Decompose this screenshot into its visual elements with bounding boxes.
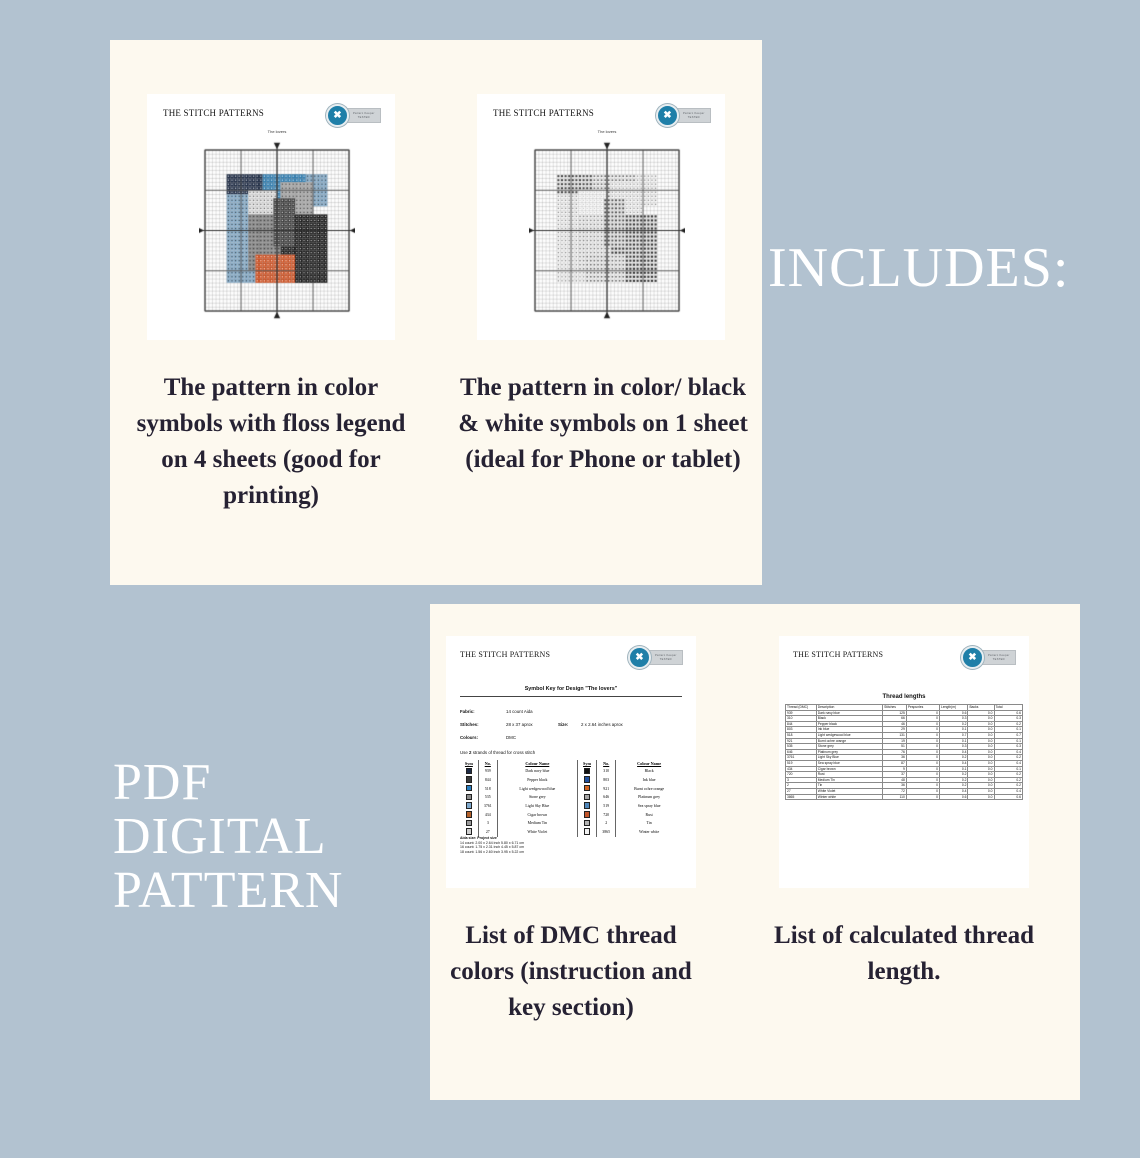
legend-row: 518Light wedgewood blue921Burnt ochre or… — [460, 784, 682, 793]
symbol-col-1: No. — [478, 760, 497, 767]
thread-lengths-title: Thread lengths — [779, 694, 1029, 700]
legend-no: 518 — [478, 784, 497, 793]
legend-no: 720 — [597, 810, 616, 819]
legend-swatch — [577, 810, 596, 819]
length-backs: 0.0 — [968, 794, 994, 800]
legend-name: Medium Tin — [497, 819, 577, 828]
fabric-label: Fabric: — [460, 709, 475, 714]
field-fabric-label: Fabric: — [460, 709, 475, 714]
field-colours-value: DMC — [506, 735, 516, 740]
sheet-brand-title: THE STITCH PATTERNS — [793, 650, 883, 659]
legend-name: Pepper black — [497, 776, 577, 785]
length-stitches: 110 — [883, 794, 907, 800]
strands-note-post: strands of thread for cross stitch — [471, 750, 535, 755]
length-length: 0.6 — [940, 794, 968, 800]
legend-no: 2 — [597, 819, 616, 828]
legend-swatch — [460, 802, 478, 811]
legend-name: Winter white — [616, 828, 682, 837]
legend-name: Light wedgewood blue — [497, 784, 577, 793]
legend-no: 3761 — [478, 802, 497, 811]
strands-note: Use 2 strands of thread for cross stitch — [460, 750, 535, 755]
legend-swatch — [577, 793, 596, 802]
length-row: 3865Winter white11000.60.00.6 — [786, 794, 1023, 800]
pdf-line-3: PATTERN — [113, 864, 343, 918]
pattern-keeper-seal-icon: ✖ — [628, 646, 651, 669]
pattern-keeper-badge: ✖ Pattern Keeper TESTED — [656, 104, 711, 127]
length-total: 0.6 — [994, 794, 1022, 800]
field-fabric-value: 14 count Aida — [506, 709, 533, 714]
legend-no: 535 — [478, 793, 497, 802]
field-stitches-value: 28 x 37 aprox — [506, 722, 533, 727]
legend-swatch — [577, 819, 596, 828]
caption-dmc-list: List of DMC thread colors (instruction a… — [450, 918, 692, 1026]
pattern-keeper-seal-icon: ✖ — [656, 104, 679, 127]
legend-no: 939 — [478, 767, 497, 776]
stitches-label: Stitches: — [460, 722, 479, 727]
pattern-keeper-badge: ✖ Pattern Keeper TESTED — [326, 104, 381, 127]
pattern-keeper-badge: ✖ Pattern Keeper TESTED — [961, 646, 1016, 669]
strands-note-pre: Use — [460, 750, 469, 755]
field-colours-label: Colours: — [460, 735, 478, 740]
pattern-keeper-badge: ✖ Pattern Keeper TESTED — [628, 646, 683, 669]
field-size-value: 2 x 2.64 inches aprox — [581, 722, 623, 727]
cross-stitch-bw-chart: The lovers — [529, 140, 685, 321]
caption-bw-symbols: The pattern in color/ black & white symb… — [455, 370, 751, 478]
aida-header: Aida size: Project size — [460, 836, 497, 840]
caption-thread-length: List of calculated thread length. — [760, 918, 1048, 990]
legend-name: Cigar brown — [497, 810, 577, 819]
chart-title-label: The lovers — [529, 129, 685, 134]
legend-name: Rust — [616, 810, 682, 819]
legend-row: 434Cigar brown720Rust — [460, 810, 682, 819]
cross-stitch-color-chart: The lovers — [199, 140, 355, 321]
legend-swatch — [460, 793, 478, 802]
legend-row: 844Pepper black803Ink blue — [460, 776, 682, 785]
legend-name: Platinum grey — [616, 793, 682, 802]
bw-chart-canvas — [529, 140, 685, 321]
legend-name: Ink blue — [616, 776, 682, 785]
legend-no: 519 — [597, 802, 616, 811]
symbol-col-2: Colour Name — [497, 760, 577, 767]
size-label: Size: — [558, 722, 568, 727]
symbol-col-r2: Colour Name — [616, 760, 682, 767]
legend-swatch — [460, 784, 478, 793]
color-chart-canvas — [199, 140, 355, 321]
legend-swatch — [577, 802, 596, 811]
legend-name: Dark navy blue — [497, 767, 577, 776]
legend-row: 939Dark navy blue310Black — [460, 767, 682, 776]
legend-name: Black — [616, 767, 682, 776]
aida-line-14: 14 count: 2.00 x 2.64 inch 5.80 x 6.71 c… — [460, 841, 524, 845]
sheet-brand-title: THE STITCH PATTERNS — [460, 650, 550, 659]
legend-no: 3 — [478, 819, 497, 828]
sheet-brand-title: THE STITCH PATTERNS — [163, 108, 264, 118]
field-size-label: Size: — [558, 722, 568, 727]
symbol-col-r1: No. — [597, 760, 616, 767]
pdf-line-2: DIGITAL — [113, 810, 343, 864]
legend-row: 3Medium Tin2Tin — [460, 819, 682, 828]
aida-size-block: Aida size: Project size 14 count: 2.00 x… — [460, 836, 524, 854]
legend-no: 646 — [597, 793, 616, 802]
aida-line-18: 18 count: 1.56 x 2.60 inch 3.95 x 5.22 c… — [460, 850, 524, 854]
legend-no: 803 — [597, 776, 616, 785]
legend-no: 310 — [597, 767, 616, 776]
aida-line-16: 16 count: 1.75 x 2.31 inch 4.45 x 5.87 c… — [460, 845, 524, 849]
badge-ribbon-line-2: TESTED — [358, 116, 370, 120]
legend-no: 434 — [478, 810, 497, 819]
legend-name: Tin — [616, 819, 682, 828]
chart-title-label: The lovers — [199, 129, 355, 134]
bw-symbol-chart-sheet[interactable]: THE STITCH PATTERNS ✖ Pattern Keeper TES… — [477, 94, 725, 340]
caption-color-symbols: The pattern in color symbols with floss … — [130, 370, 412, 514]
pdf-line-1: PDF — [113, 756, 343, 810]
color-symbol-chart-sheet[interactable]: THE STITCH PATTERNS ✖ Pattern Keeper TES… — [147, 94, 395, 340]
legend-row: 535Stone grey646Platinum grey — [460, 793, 682, 802]
symbol-key-sheet[interactable]: THE STITCH PATTERNS ✖ Pattern Keeper TES… — [446, 636, 696, 888]
legend-swatch — [460, 776, 478, 785]
legend-no: 3865 — [597, 828, 616, 837]
legend-name: Burnt ochre orange — [616, 784, 682, 793]
legend-swatch — [577, 828, 596, 837]
length-thread: 3865 — [786, 794, 817, 800]
legend-name: Stone grey — [497, 793, 577, 802]
symbol-col-0: Sym — [460, 760, 478, 767]
symbol-legend-table: SymNo.Colour NameSymNo.Colour Name939Dar… — [460, 760, 682, 837]
symbol-key-title: Symbol Key for Design "The lovers" — [446, 686, 696, 692]
thread-lengths-sheet[interactable]: THE STITCH PATTERNS ✖ Pattern Keeper TES… — [779, 636, 1029, 888]
pattern-keeper-seal-icon: ✖ — [326, 104, 349, 127]
field-stitches-label: Stitches: — [460, 722, 479, 727]
sheet-brand-title: THE STITCH PATTERNS — [493, 108, 594, 118]
key-divider — [460, 696, 682, 697]
legend-name: Sea spray blue — [616, 802, 682, 811]
thread-lengths-table: Thread (DMC)DescriptionStitchesPespunles… — [785, 704, 1023, 800]
badge-ribbon-line-2: TESTED — [688, 116, 700, 120]
legend-swatch — [460, 819, 478, 828]
pattern-keeper-seal-icon: ✖ — [961, 646, 984, 669]
includes-headline: INCLUDES: — [768, 236, 1069, 300]
length-desc: Winter white — [816, 794, 882, 800]
colours-label: Colours: — [460, 735, 478, 740]
badge-ribbon-line-2: TESTED — [993, 658, 1005, 662]
legend-no: 921 — [597, 784, 616, 793]
legend-name: Light Sky Blue — [497, 802, 577, 811]
legend-swatch — [577, 767, 596, 776]
badge-ribbon-line-2: TESTED — [660, 658, 672, 662]
legend-row: 3761Light Sky Blue519Sea spray blue — [460, 802, 682, 811]
length-pesp: 0 — [906, 794, 939, 800]
legend-swatch — [460, 767, 478, 776]
legend-swatch — [577, 784, 596, 793]
legend-swatch — [577, 776, 596, 785]
legend-swatch — [460, 810, 478, 819]
legend-no: 844 — [478, 776, 497, 785]
symbol-col-r0: Sym — [577, 760, 596, 767]
pdf-digital-pattern-headline: PDF DIGITAL PATTERN — [113, 756, 343, 918]
